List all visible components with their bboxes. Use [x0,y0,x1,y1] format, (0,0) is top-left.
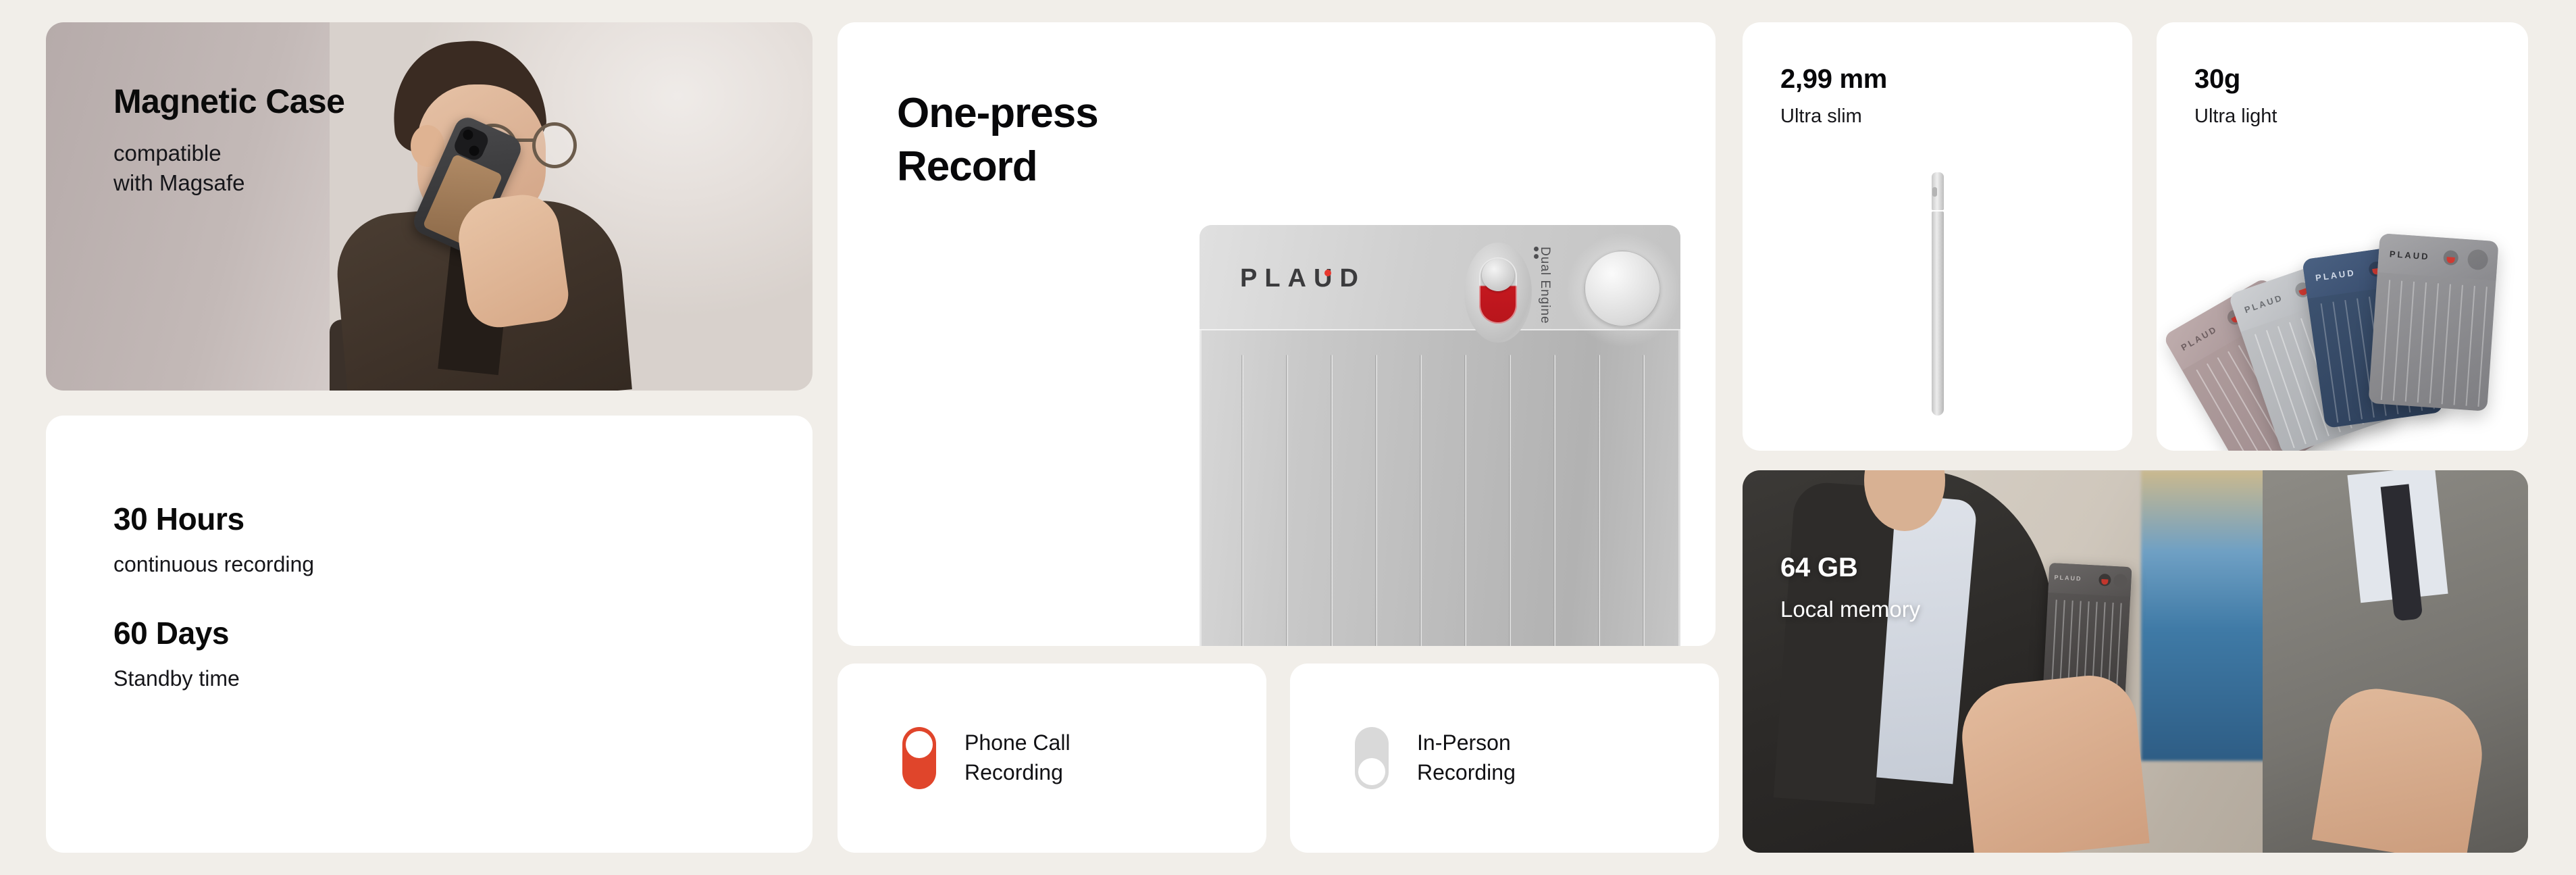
grill-line [1420,355,1422,646]
grill-line [2417,282,2427,403]
local-memory-card[interactable]: PLAUD 64 GB Local memory [1743,470,2528,853]
switch-knob-icon [1482,259,1514,291]
magnetic-case-subtitle-line2: with Magsafe [113,168,344,198]
feature-grid: Magnetic Case compatible with Magsafe 30… [0,0,2576,875]
grill-line [2393,281,2402,401]
grill-line [2454,285,2463,405]
device-profile-body-shape [1932,211,1944,416]
device-color-fan-image: PLAUD PLAUD PLAUD PLAUD [2190,237,2508,440]
in-person-recording-card[interactable]: In-Person Recording [1290,664,1719,853]
grill-line [2405,282,2415,402]
memory-value: 64 GB [1780,553,1920,583]
grill-line [1241,355,1243,646]
grill-line [2442,284,2451,405]
slim-value: 2,99 mm [1780,64,1887,95]
battery-stat1-label: continuous recording [113,552,314,577]
grill-line [1598,355,1600,646]
device-profile-top-shape [1932,172,1944,210]
in-person-recording-label: In-Person Recording [1417,728,1516,787]
magnetic-case-title: Magnetic Case [113,82,344,121]
phone-call-recording-card[interactable]: Phone Call Recording [838,664,1266,853]
held-device-logo: PLAUD [2054,574,2082,582]
magnetic-case-subtitle: compatible with Magsafe [113,139,344,197]
memory-label: Local memory [1780,597,1920,622]
toggle-knob [1358,758,1385,785]
device-engine-label: Dual Engine [1537,247,1552,324]
one-press-record-card[interactable]: One-press Record PLAUD Dual Engine [838,22,1716,646]
grill-line [1286,355,1288,646]
magnetic-case-text-block: Magnetic Case compatible with Magsafe [113,82,344,197]
office-window-shape [2141,470,2283,761]
battery-stat2-label: Standby time [113,666,314,691]
device-top-panel: PLAUD Dual Engine [1200,225,1680,330]
slab-grill [2368,275,2496,411]
grill-line [2429,283,2439,403]
device-side-profile-image [1930,172,1945,416]
grill-line [1375,355,1377,646]
mode-label-line1: In-Person [1417,728,1516,758]
grill-line [2381,280,2390,400]
light-text-block: 30g Ultra light [2194,64,2277,128]
record-title-line1: One-press [897,86,1098,140]
grill-line [2477,286,2487,407]
slim-label: Ultra slim [1780,105,1887,128]
round-press-button-icon [1585,251,1660,326]
mode-label-line2: Recording [1417,758,1516,788]
brand-accent-dot-icon [1324,270,1331,276]
phone-call-recording-label: Phone Call Recording [964,728,1071,787]
grill-line [1509,355,1511,646]
grill-line [1464,355,1466,646]
hand-holding-device-shape [1957,671,2149,853]
device-side-button-icon [1932,187,1937,197]
light-label: Ultra light [2194,105,2277,128]
local-memory-photo: PLAUD [1743,470,2528,853]
toggle-knob [906,731,933,758]
record-title: One-press Record [897,86,1098,194]
device-grill-pattern [1200,332,1680,646]
device-brand-logo: PLAUD [1240,264,1366,293]
grill-line [1643,355,1645,646]
light-value: 30g [2194,64,2277,95]
battery-stat1-value: 30 Hours [113,501,314,537]
magnetic-case-subtitle-line1: compatible [113,139,344,168]
toggle-off-icon[interactable] [1355,727,1389,789]
record-title-line2: Record [897,140,1098,193]
grill-line [1331,355,1333,646]
device-color-gray: PLAUD [2368,233,2498,411]
magnetic-case-card[interactable]: Magnetic Case compatible with Magsafe [46,22,813,391]
memory-text-block: 64 GB Local memory [1780,553,1920,622]
ultra-slim-card[interactable]: 2,99 mm Ultra slim [1743,22,2132,451]
ultra-light-card[interactable]: 30g Ultra light PLAUD PLAUD PLAUD [2157,22,2528,451]
grill-line [1553,355,1555,646]
mode-label-line1: Phone Call [964,728,1071,758]
mode-label-line2: Recording [964,758,1071,788]
battery-text-block: 30 Hours continuous recording 60 Days St… [113,501,314,691]
grill-line [2465,286,2475,406]
glasses-right-lens-icon [532,122,577,168]
plaud-device-image: PLAUD Dual Engine [1200,225,1680,646]
slim-text-block: 2,99 mm Ultra slim [1780,64,1887,128]
toggle-on-icon[interactable] [902,727,936,789]
battery-stat2-value: 60 Days [113,615,314,651]
battery-card[interactable]: 30 Hours continuous recording 60 Days St… [46,416,813,853]
magnetic-case-photo [330,22,813,391]
